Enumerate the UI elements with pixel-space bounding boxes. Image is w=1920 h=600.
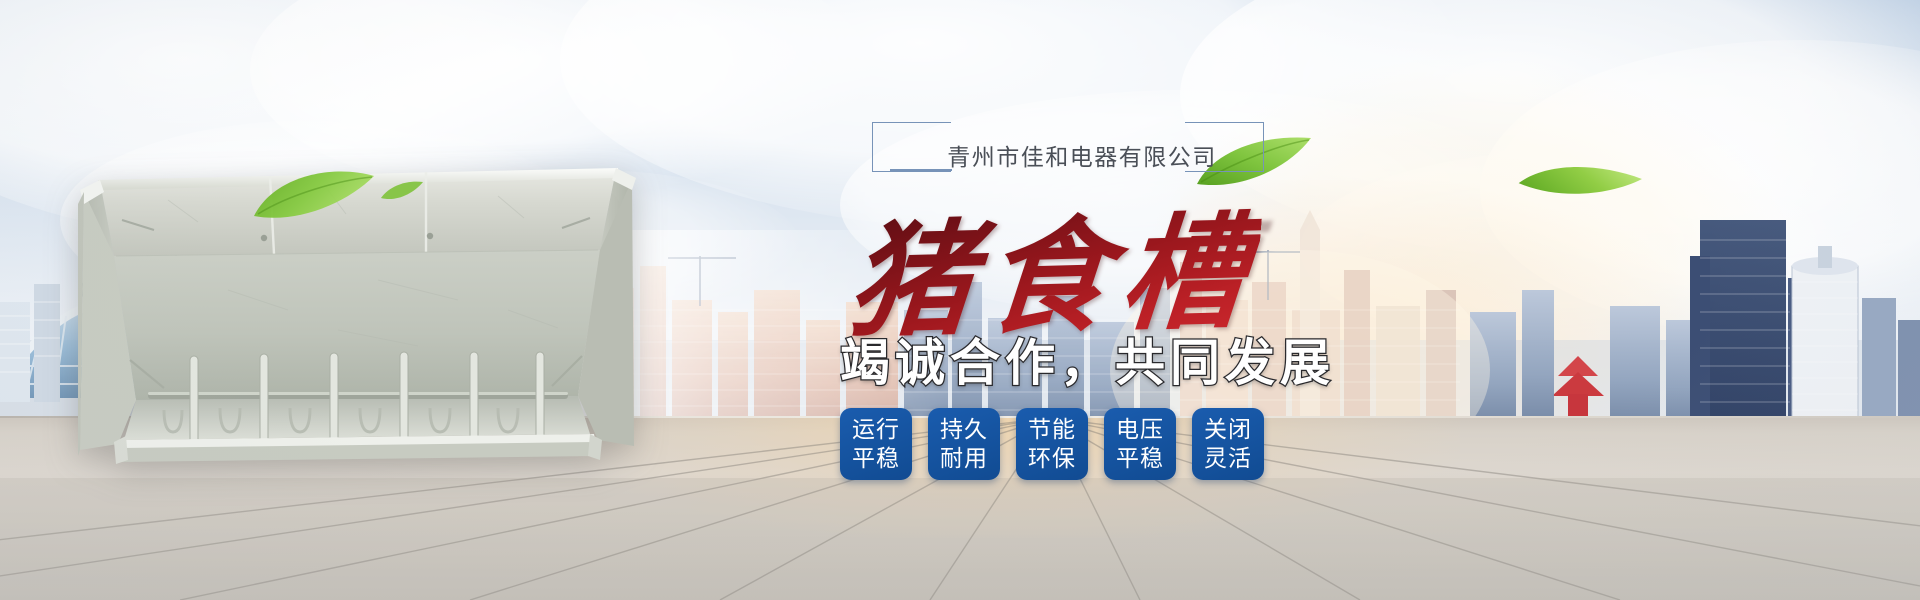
- badge-line-2: 平稳: [852, 444, 900, 473]
- badge-line-1: 持久: [940, 415, 988, 444]
- company-name: 青州市佳和电器有限公司: [932, 138, 1232, 172]
- feature-badge[interactable]: 节能 环保: [1016, 408, 1088, 480]
- slogan-subtitle: 竭诚合作，共同发展: [840, 323, 1335, 395]
- feature-badge[interactable]: 电压 平稳: [1104, 408, 1176, 480]
- badge-line-2: 环保: [1028, 444, 1076, 473]
- badge-line-2: 灵活: [1204, 444, 1252, 473]
- badge-line-2: 耐用: [940, 444, 988, 473]
- badge-line-1: 电压: [1116, 415, 1164, 444]
- feature-badge[interactable]: 运行 平稳: [840, 408, 912, 480]
- leaf-icon: [380, 180, 424, 202]
- promotional-banner: 青州市佳和电器有限公司 猪食槽 猪食槽 竭诚合作，共同发展 运行 平稳 持久 耐…: [0, 0, 1920, 600]
- feature-badge[interactable]: 持久 耐用: [928, 408, 1000, 480]
- feature-badge[interactable]: 关闭 灵活: [1192, 408, 1264, 480]
- badge-line-1: 运行: [852, 415, 900, 444]
- badge-line-2: 平稳: [1116, 444, 1164, 473]
- badge-line-1: 节能: [1028, 415, 1076, 444]
- leaf-icon: [250, 168, 380, 224]
- banner-text-block: 青州市佳和电器有限公司 猪食槽 猪食槽 竭诚合作，共同发展 运行 平稳 持久 耐…: [860, 118, 1500, 538]
- company-name-row: 青州市佳和电器有限公司: [872, 118, 1264, 176]
- feature-badge-row: 运行 平稳 持久 耐用 节能 环保 电压 平稳 关闭 灵活: [840, 408, 1264, 480]
- badge-line-1: 关闭: [1204, 415, 1252, 444]
